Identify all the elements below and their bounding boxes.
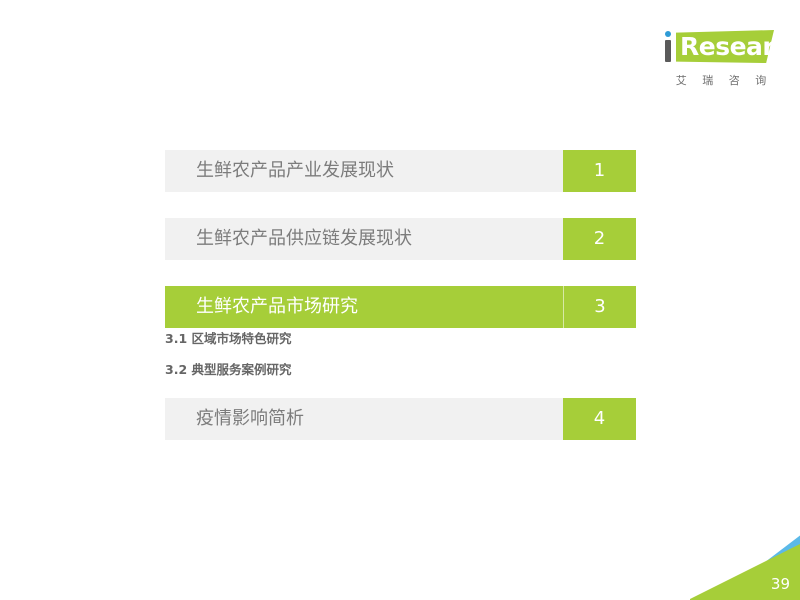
agenda-row-4[interactable]: 疫情影响简析 4	[165, 398, 636, 440]
agenda-subitem-3-2[interactable]: 3.2 典型服务案例研究	[165, 362, 565, 377]
agenda-subitems: 3.1 区域市场特色研究 3.2 典型服务案例研究	[165, 331, 565, 393]
iresearch-logo: Research 艾 瑞 咨 询	[662, 28, 782, 100]
agenda-label-1: 生鲜农产品产业发展现状	[196, 150, 394, 192]
agenda-list-tail: 疫情影响简析 4	[165, 398, 636, 440]
page-number: 39	[771, 575, 790, 593]
logo-blue-dot-icon	[665, 31, 671, 37]
agenda-subitem-3-1[interactable]: 3.1 区域市场特色研究	[165, 331, 565, 346]
agenda-row-2[interactable]: 生鲜农产品供应链发展现状 2	[165, 218, 636, 260]
logo-letter-i-icon	[665, 40, 671, 62]
slide-canvas: Research 艾 瑞 咨 询 生鲜农产品产业发展现状 1 生鲜农产品供应链发…	[0, 0, 800, 600]
logo-subtitle: 艾 瑞 咨 询	[668, 74, 780, 88]
agenda-number-4: 4	[563, 398, 636, 440]
agenda-label-3: 生鲜农产品市场研究	[196, 286, 358, 328]
agenda-row-1[interactable]: 生鲜农产品产业发展现状 1	[165, 150, 636, 192]
agenda-label-4: 疫情影响简析	[196, 398, 304, 440]
logo-mark: Research	[662, 28, 782, 72]
agenda-number-3: 3	[563, 286, 636, 328]
agenda-label-2: 生鲜农产品供应链发展现状	[196, 218, 412, 260]
logo-wordmark: Research	[680, 33, 772, 61]
agenda-number-2: 2	[563, 218, 636, 260]
agenda-list: 生鲜农产品产业发展现状 1 生鲜农产品供应链发展现状 2 生鲜农产品市场研究 3	[165, 150, 636, 354]
agenda-row-3[interactable]: 生鲜农产品市场研究 3	[165, 286, 636, 328]
corner-decoration: 39	[690, 520, 800, 600]
agenda-number-1: 1	[563, 150, 636, 192]
